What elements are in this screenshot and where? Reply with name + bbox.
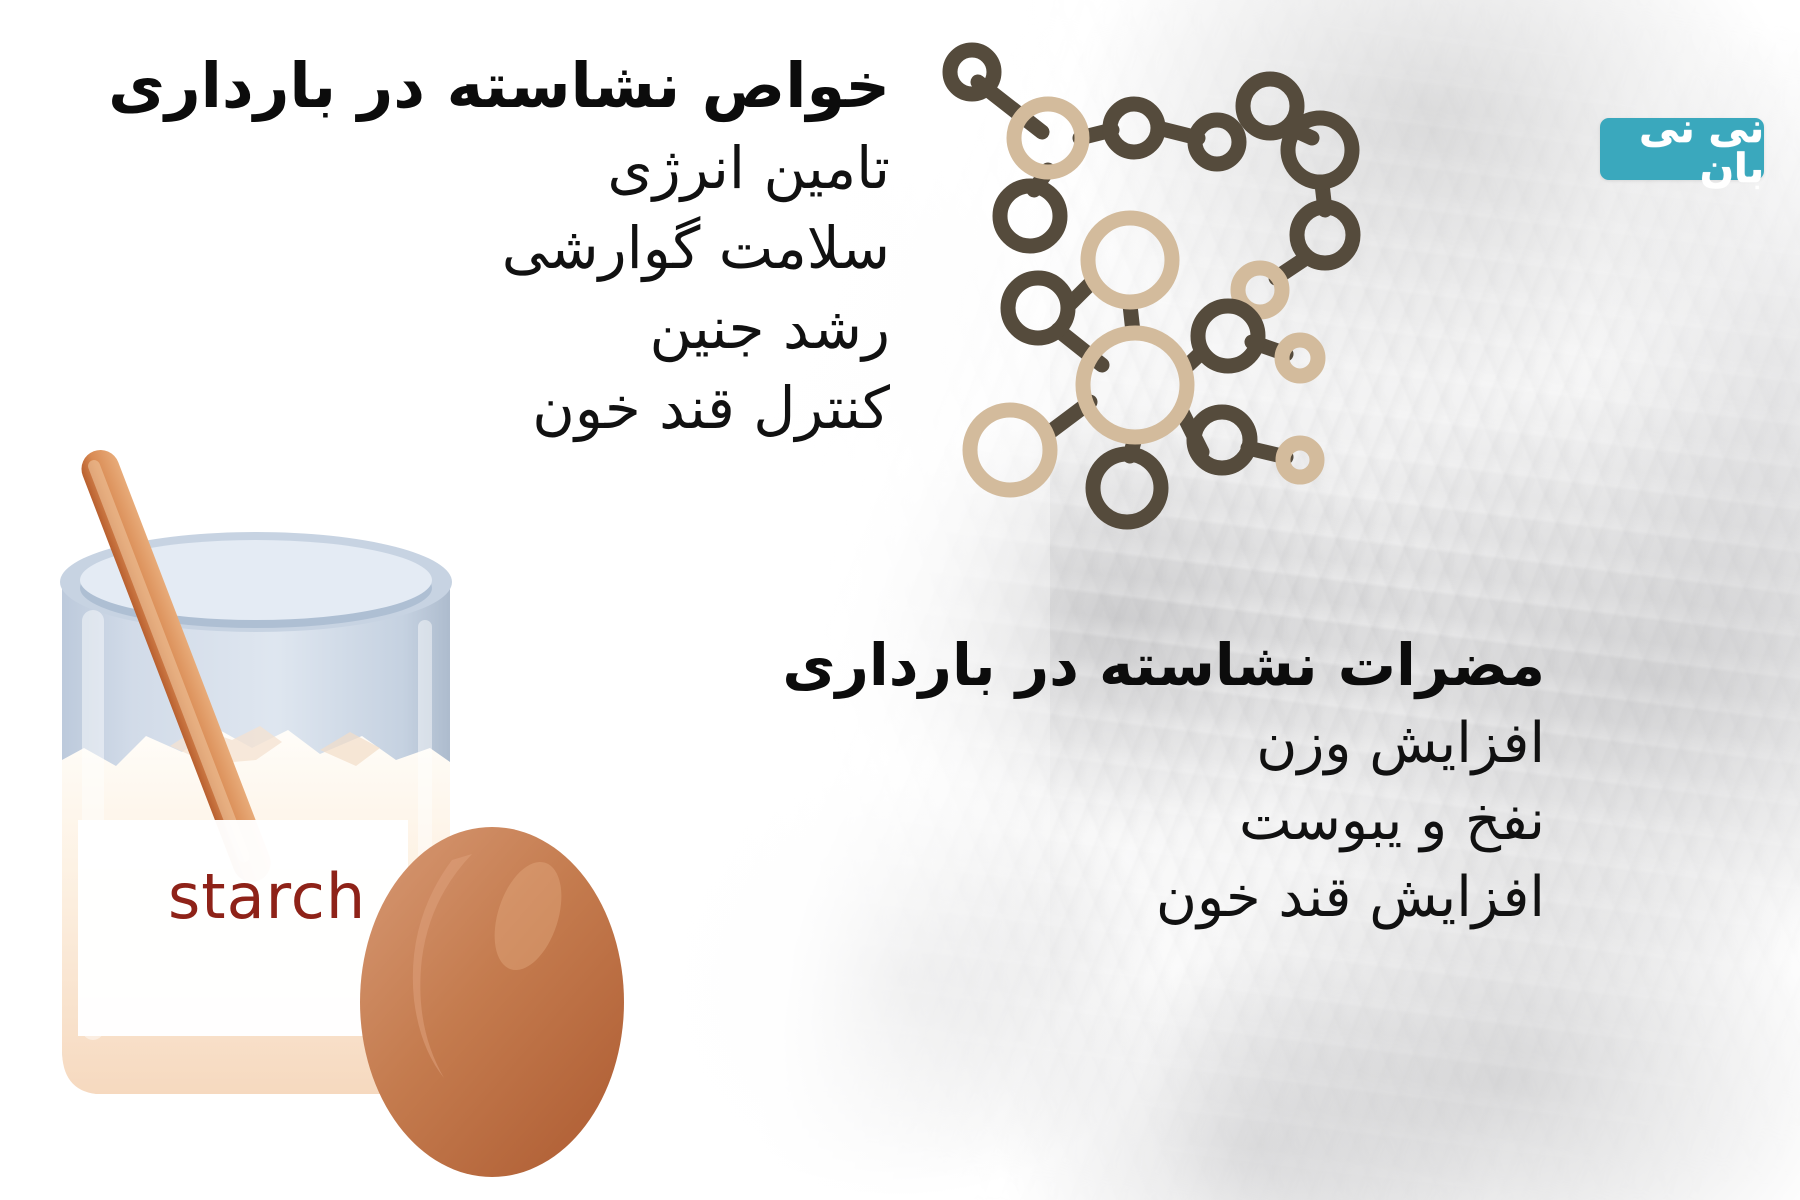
egg xyxy=(360,827,624,1177)
starch-jar-illustration: starch xyxy=(20,430,660,1200)
benefits-section: خواص نشاسته در بارداری تامین انرژی سلامت… xyxy=(70,48,890,448)
benefits-heading: خواص نشاسته در بارداری xyxy=(70,48,890,124)
benefit-item: رشد جنین xyxy=(70,288,890,368)
harm-item: افزایش قند خون xyxy=(725,859,1545,936)
harms-heading: مضرات نشاسته در بارداری xyxy=(725,630,1545,701)
brand-logo[interactable]: نی نی بان xyxy=(1600,118,1764,180)
infographic-poster: نی نی بان خواص نشاسته در بارداری تامین ا… xyxy=(0,0,1800,1200)
benefit-item: تامین انرژی xyxy=(70,128,890,208)
benefit-item: سلامت گوارشی xyxy=(70,208,890,288)
molecule-nodes xyxy=(950,50,1353,522)
starch-label-text: starch xyxy=(168,860,366,933)
harms-section: مضرات نشاسته در بارداری افزایش وزن نفخ و… xyxy=(725,630,1545,937)
brand-logo-text: نی نی بان xyxy=(1600,109,1764,189)
harm-item: نفخ و یبوست xyxy=(725,782,1545,859)
harm-item: افزایش وزن xyxy=(725,705,1545,782)
molecule-graphic xyxy=(930,20,1410,540)
